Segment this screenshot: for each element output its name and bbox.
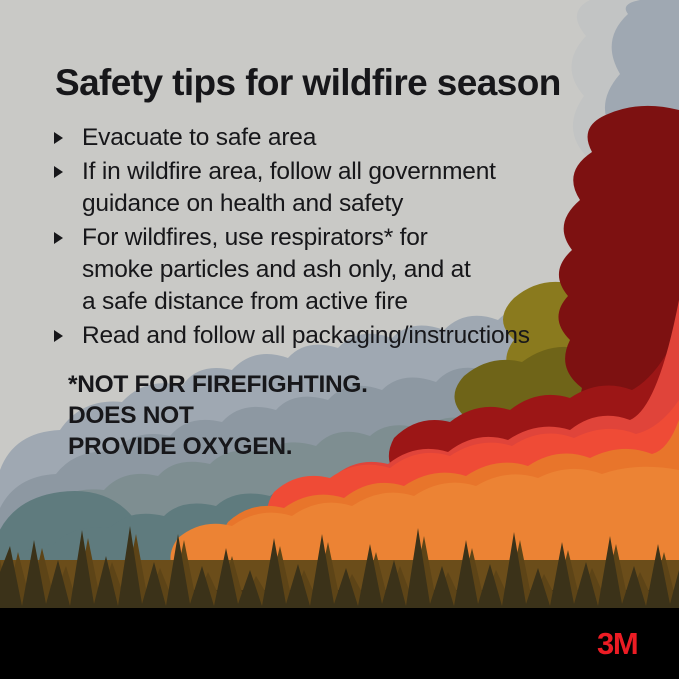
list-item: If in wildfire area, follow all governme… — [52, 156, 612, 220]
bottom-black-bar — [0, 608, 679, 679]
list-item: For wildfires, use respirators* for smok… — [52, 222, 612, 318]
list-item-label: If in wildfire area, follow all governme… — [82, 156, 612, 220]
list-item: Evacuate to safe area — [52, 122, 612, 154]
wildfire-safety-poster: Safety tips for wildfire season Evacuate… — [0, 0, 679, 679]
triangle-right-icon — [54, 330, 63, 342]
page-title: Safety tips for wildfire season — [55, 62, 561, 104]
list-item-label: Read and follow all packaging/instructio… — [82, 320, 612, 352]
triangle-right-icon — [54, 132, 63, 144]
list-item: Read and follow all packaging/instructio… — [52, 320, 612, 352]
safety-tips-list: Evacuate to safe area If in wildfire are… — [52, 122, 612, 354]
warning-text: *NOT FOR FIREFIGHTING. DOES NOT PROVIDE … — [68, 369, 368, 462]
list-item-label: Evacuate to safe area — [82, 122, 612, 154]
triangle-right-icon — [54, 166, 63, 178]
triangle-right-icon — [54, 232, 63, 244]
list-item-label: For wildfires, use respirators* for smok… — [82, 222, 612, 318]
brand-logo-3m: 3M — [597, 627, 653, 661]
